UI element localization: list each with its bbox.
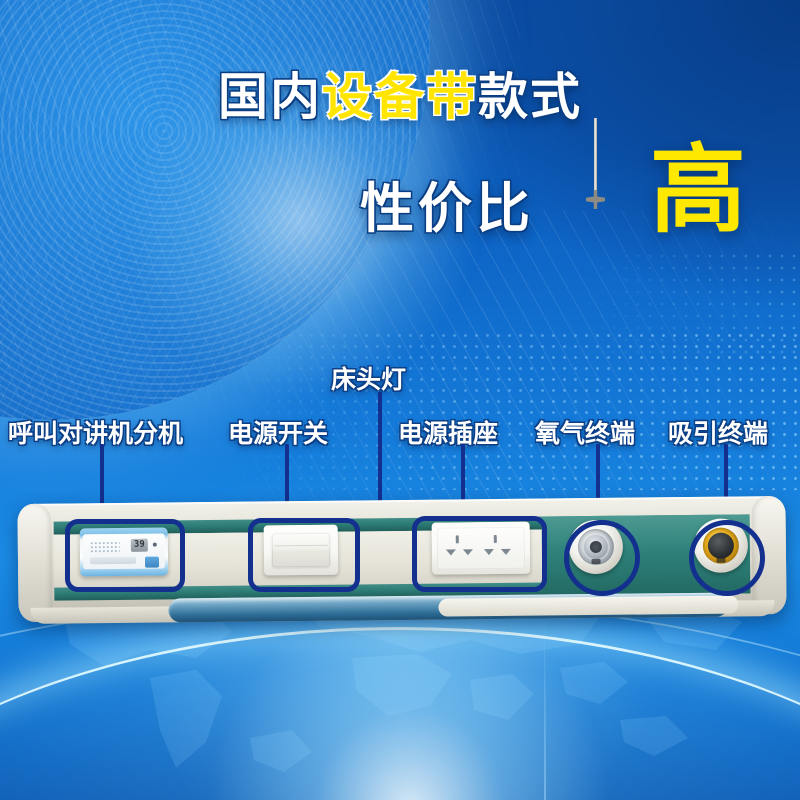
callout-label-power-switch: 电源开关 [228,414,328,450]
headline-part-3: 款式 [478,68,582,126]
highlight-power-switch [248,518,360,592]
callout-label-bed-lamp: 床头灯 [331,360,406,396]
highlight-oxygen [564,520,640,596]
callout-label-intercom: 呼叫对讲机分机 [8,414,183,450]
headline-accent-char: 高 [650,142,746,238]
panel-rail-white-section [438,595,738,616]
headline-line-1: 国内设备带款式 [0,72,800,122]
banner-canvas: 国内设备带款式 性价比 高 呼叫对讲机分机 电源开关 床头灯 电源插座 氧气终端… [0,0,800,800]
panel-end-cap-left [17,504,52,622]
headline-block: 国内设备带款式 [0,72,800,122]
headline-line-2: 性价比 [360,164,534,243]
highlight-suction [689,520,765,596]
highlight-intercom [65,519,185,592]
halftone-dots-labels [240,330,800,490]
callout-label-suction: 吸引终端 [668,414,768,450]
lamp-pull-cord[interactable] [594,118,597,196]
headline-part-1: 国内 [218,68,322,126]
callout-label-power-socket: 电源插座 [398,414,498,450]
highlight-power-socket [412,516,547,592]
callout-label-oxygen: 氧气终端 [535,414,635,450]
headline-part-2: 设备带 [322,68,478,126]
